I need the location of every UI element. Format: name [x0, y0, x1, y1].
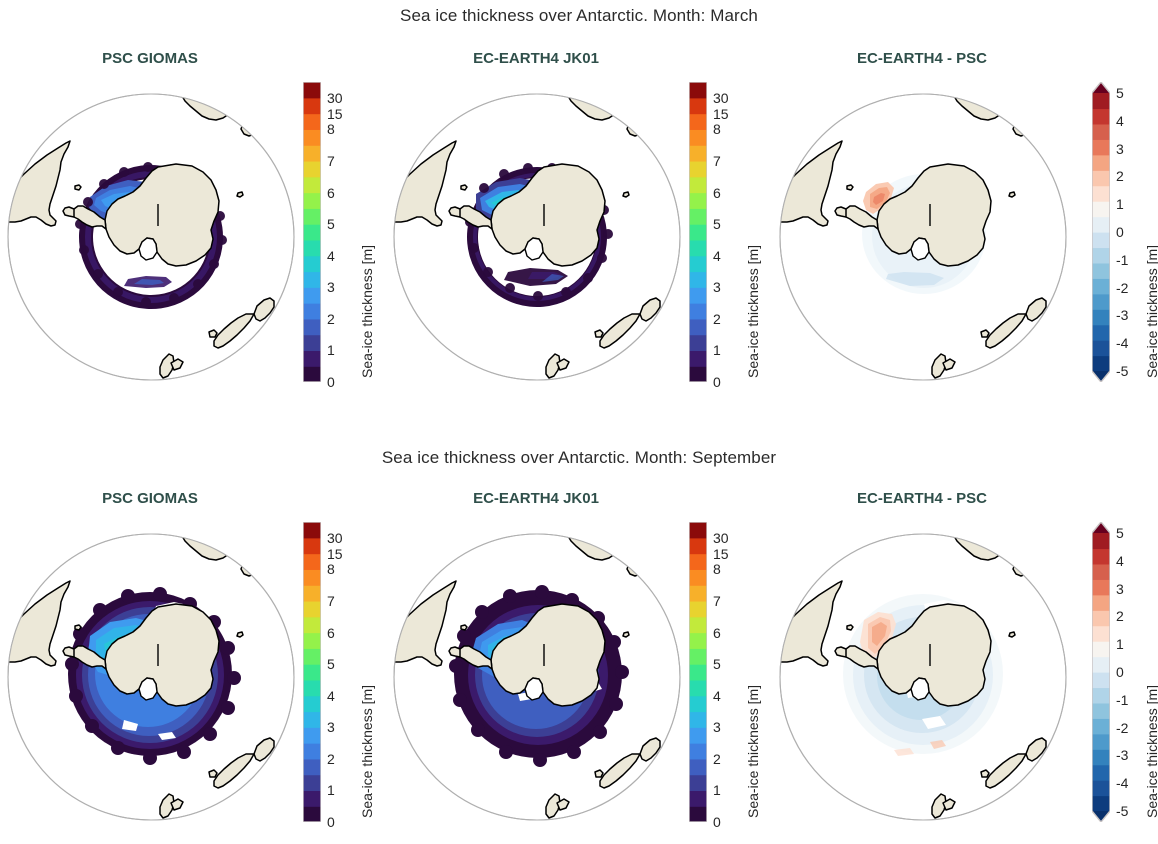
figure-canvas: Sea ice thickness over Antarctic. Month:…: [0, 0, 1158, 844]
colorbar-tick: 30: [713, 90, 729, 106]
colorbar-gradient: [303, 82, 321, 382]
colorbar-tick: 15: [327, 546, 343, 562]
colorbar-tick: -1: [1116, 252, 1128, 268]
polar-map-svg: .land{fill:#ece8d8;stroke:#000000;stroke…: [778, 514, 1068, 834]
colorbar-tick: 3: [1116, 581, 1124, 597]
colorbar-tick: 15: [713, 546, 729, 562]
colorbar-tick: 8: [327, 561, 335, 577]
colorbar-tick: 7: [713, 593, 721, 609]
colorbar-tick: 6: [327, 185, 335, 201]
colorbar-tick: 2: [327, 311, 335, 327]
map-psc-giomas-september[interactable]: .land{fill:#ece8d8;stroke:#000000;stroke…: [6, 514, 296, 834]
colorbar-tick: 8: [713, 121, 721, 137]
colorbar-tick: 3: [327, 719, 335, 735]
panel-title-ecearth4-jk01-september: EC-EARTH4 JK01: [386, 490, 686, 507]
colorbar-tick: 5: [713, 656, 721, 672]
map-ecearth4-jk01-september[interactable]: .land{fill:#ece8d8;stroke:#000000;stroke…: [392, 514, 682, 834]
colorbar-axis-label: Sea-ice thickness [m]: [359, 685, 375, 818]
colorbar-tick: 5: [713, 216, 721, 232]
colorbar-tick: 6: [327, 625, 335, 641]
colorbar-tick: 8: [327, 121, 335, 137]
colorbar-tick: 4: [713, 688, 721, 704]
colorbar-tick: 4: [327, 248, 335, 264]
polar-map-svg: .land{fill:#ece8d8;stroke:#000000;stroke…: [6, 514, 296, 834]
panel-title-ecearth4-jk01-march: EC-EARTH4 JK01: [386, 50, 686, 67]
colorbar-tick: -5: [1116, 363, 1128, 379]
colorbar-tick: 0: [1116, 664, 1124, 680]
colorbar-gradient: [689, 522, 707, 822]
colorbar-tick: -3: [1116, 747, 1128, 763]
colorbar-ticklabels: 0123456781530: [713, 82, 739, 382]
colorbar-absolute-september-2[interactable]: 0123456781530 Sea-ice thickness [m]: [689, 522, 769, 822]
map-ecearth4-jk01-march[interactable]: .land{fill:#ece8d8;stroke:#000000;stroke…: [392, 74, 682, 394]
colorbar-tick: 2: [1116, 608, 1124, 624]
colorbar-tick: 1: [1116, 196, 1124, 212]
colorbar-tick: 3: [713, 719, 721, 735]
colorbar-gradient: [689, 82, 707, 382]
colorbar-tick: 4: [713, 248, 721, 264]
colorbar-tick: 1: [327, 342, 335, 358]
colorbar-tick: 6: [713, 625, 721, 641]
colorbar-tick: 5: [1116, 525, 1124, 541]
colorbar-axis-label: Sea-ice thickness [m]: [745, 685, 761, 818]
colorbar-tick: 5: [327, 216, 335, 232]
colorbar-tick: -5: [1116, 803, 1128, 819]
colorbar-tick: -4: [1116, 775, 1128, 791]
colorbar-tick: 5: [327, 656, 335, 672]
colorbar-tick: 1: [713, 782, 721, 798]
colorbar-tick: 3: [1116, 141, 1124, 157]
colorbar-axis-label: Sea-ice thickness [m]: [1144, 685, 1158, 818]
colorbar-gradient: [303, 522, 321, 822]
map-psc-giomas-march[interactable]: .land{fill:#ece8d8;stroke:#000;stroke-wi…: [6, 74, 296, 394]
colorbar-tick: 3: [713, 279, 721, 295]
panel-diff-march: EC-EARTH4 - PSC: [772, 50, 1072, 400]
colorbar-tick: -1: [1116, 692, 1128, 708]
map-diff-september[interactable]: .land{fill:#ece8d8;stroke:#000000;stroke…: [778, 514, 1068, 834]
polar-map-svg: .land{fill:#ece8d8;stroke:#000000;stroke…: [392, 74, 682, 394]
colorbar-difference-march[interactable]: -5-4-3-2-1012345 Sea-ice thickness [m]: [1092, 82, 1158, 382]
panel-psc-giomas-september: PSC GIOMAS: [0, 490, 300, 840]
colorbar-tick: 0: [1116, 224, 1124, 240]
colorbar-tick: 2: [1116, 168, 1124, 184]
colorbar-tick: 7: [327, 593, 335, 609]
suptitle-march: Sea ice thickness over Antarctic. Month:…: [0, 6, 1158, 26]
colorbar-tick: 30: [713, 530, 729, 546]
colorbar-tick: -4: [1116, 335, 1128, 351]
colorbar-tick: 30: [327, 90, 343, 106]
colorbar-tick: 0: [327, 814, 335, 830]
colorbar-tick: 1: [713, 342, 721, 358]
colorbar-tick: 2: [713, 311, 721, 327]
panel-psc-giomas-march: PSC GIOMAS: [0, 50, 300, 400]
colorbar-absolute-march-2[interactable]: 0123456781530 Sea-ice thickness [m]: [689, 82, 769, 382]
colorbar-tick: 7: [713, 153, 721, 169]
panel-ecearth4-jk01-march: EC-EARTH4 JK01: [386, 50, 686, 400]
panel-ecearth4-jk01-september: EC-EARTH4 JK01: [386, 490, 686, 840]
colorbar-tick: 0: [713, 814, 721, 830]
colorbar-tick: 1: [1116, 636, 1124, 652]
panel-title-psc-giomas-september: PSC GIOMAS: [0, 490, 300, 507]
colorbar-absolute-march-1[interactable]: 0123456781530 Sea-ice thickness [m]: [303, 82, 383, 382]
suptitle-september: Sea ice thickness over Antarctic. Month:…: [0, 448, 1158, 468]
colorbar-tick: 4: [1116, 553, 1124, 569]
colorbar-ticklabels: 0123456781530: [327, 82, 353, 382]
panel-title-psc-giomas-march: PSC GIOMAS: [0, 50, 300, 67]
colorbar-tick: 15: [327, 106, 343, 122]
panel-title-diff-march: EC-EARTH4 - PSC: [772, 50, 1072, 67]
colorbar-tick: 6: [713, 185, 721, 201]
colorbar-difference-september[interactable]: -5-4-3-2-1012345 Sea-ice thickness [m]: [1092, 522, 1158, 822]
colorbar-gradient: [1092, 522, 1110, 822]
map-diff-march[interactable]: .land{fill:#ece8d8;stroke:#000000;stroke…: [778, 74, 1068, 394]
polar-map-svg: .land{fill:#ece8d8;stroke:#000000;stroke…: [392, 514, 682, 834]
colorbar-tick: 0: [327, 374, 335, 390]
colorbar-tick: 2: [713, 751, 721, 767]
polar-map-svg: .land{fill:#ece8d8;stroke:#000;stroke-wi…: [6, 74, 296, 394]
colorbar-ticklabels: 0123456781530: [713, 522, 739, 822]
colorbar-tick: 15: [713, 106, 729, 122]
colorbar-ticklabels: 0123456781530: [327, 522, 353, 822]
panel-diff-september: EC-EARTH4 - PSC: [772, 490, 1072, 840]
colorbar-tick: -2: [1116, 280, 1128, 296]
colorbar-tick: 1: [327, 782, 335, 798]
colorbar-ticklabels: -5-4-3-2-1012345: [1116, 82, 1142, 382]
colorbar-axis-label: Sea-ice thickness [m]: [359, 245, 375, 378]
colorbar-tick: 4: [327, 688, 335, 704]
colorbar-axis-label: Sea-ice thickness [m]: [1144, 245, 1158, 378]
colorbar-tick: 4: [1116, 113, 1124, 129]
colorbar-tick: 3: [327, 279, 335, 295]
colorbar-gradient: [1092, 82, 1110, 382]
panel-title-diff-september: EC-EARTH4 - PSC: [772, 490, 1072, 507]
colorbar-tick: 2: [327, 751, 335, 767]
colorbar-axis-label: Sea-ice thickness [m]: [745, 245, 761, 378]
colorbar-tick: 7: [327, 153, 335, 169]
colorbar-tick: 30: [327, 530, 343, 546]
colorbar-absolute-september-1[interactable]: 0123456781530 Sea-ice thickness [m]: [303, 522, 383, 822]
colorbar-tick: -3: [1116, 307, 1128, 323]
colorbar-tick: 5: [1116, 85, 1124, 101]
colorbar-tick: 8: [713, 561, 721, 577]
colorbar-tick: -2: [1116, 720, 1128, 736]
colorbar-tick: 0: [713, 374, 721, 390]
colorbar-ticklabels: -5-4-3-2-1012345: [1116, 522, 1142, 822]
polar-map-svg: .land{fill:#ece8d8;stroke:#000000;stroke…: [778, 74, 1068, 394]
